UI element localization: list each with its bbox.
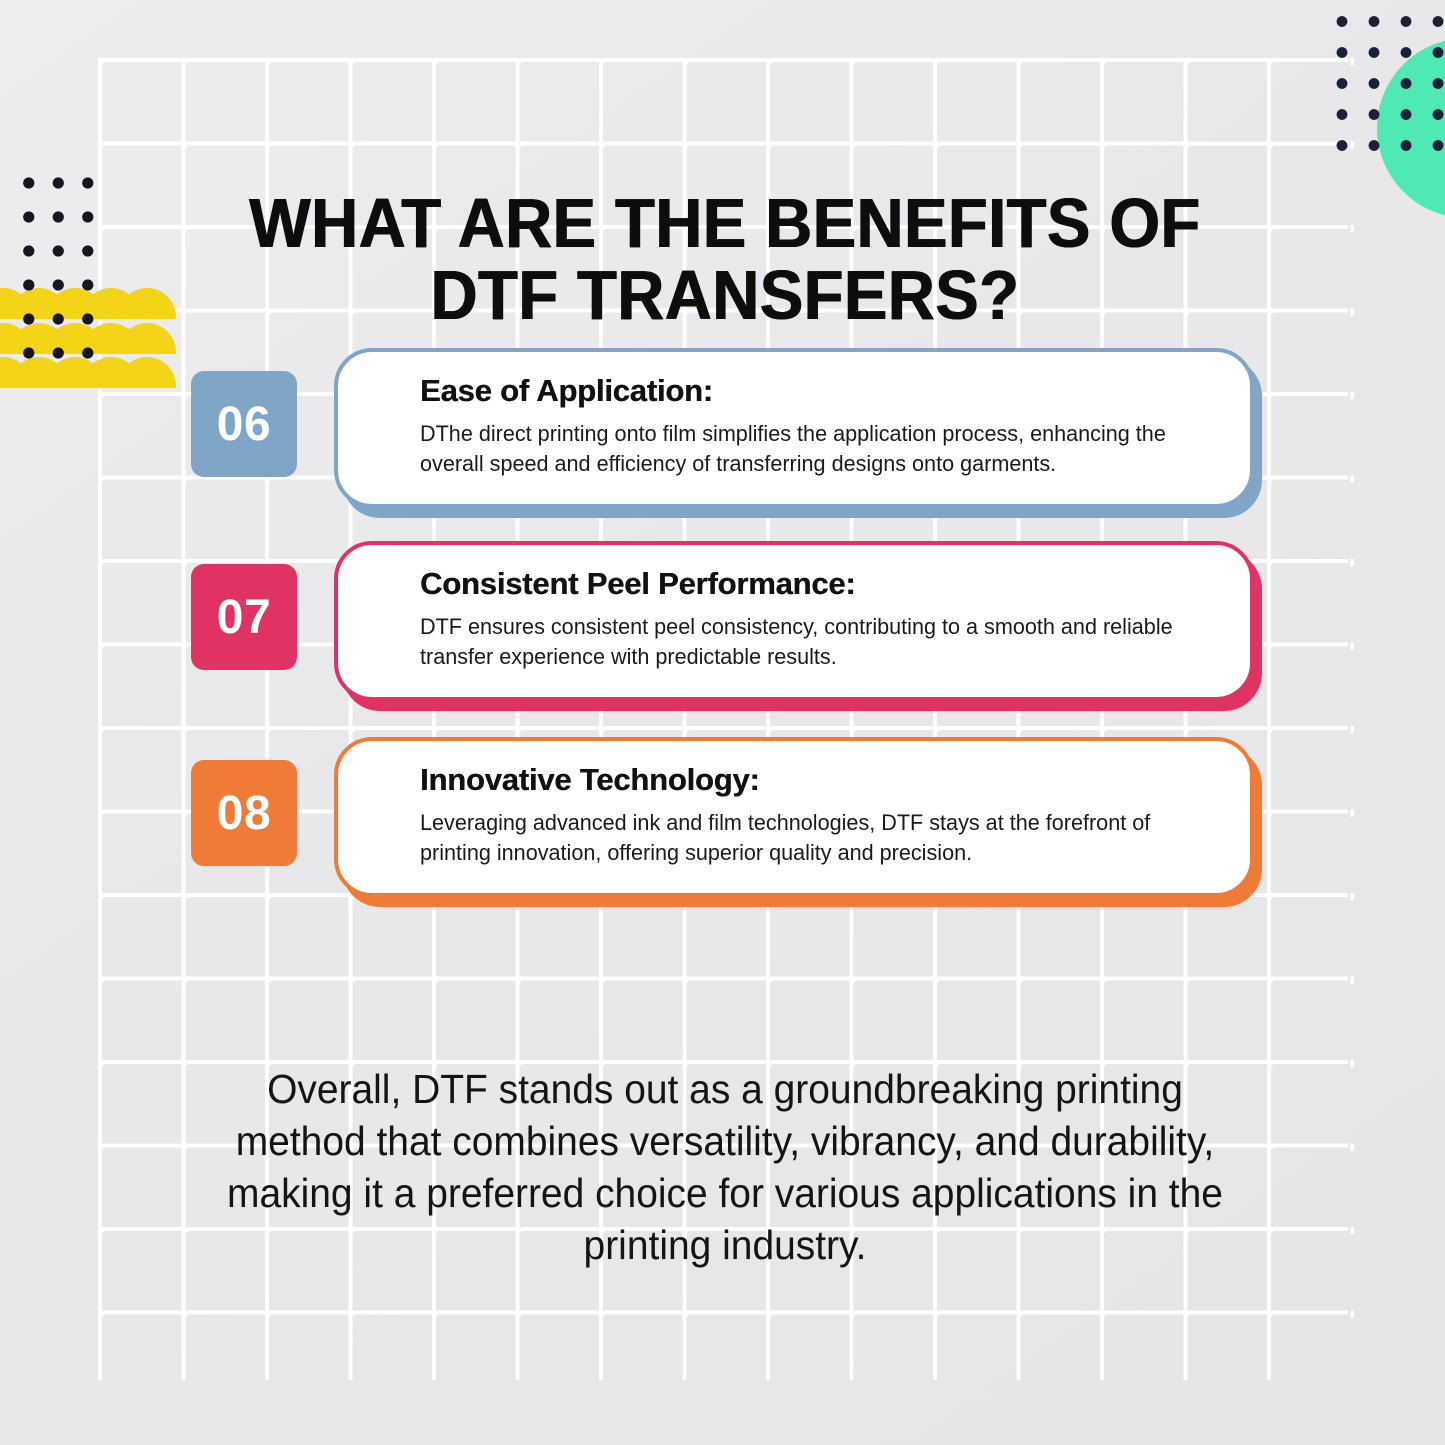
infographic-poster: WHAT ARE THE BENEFITS OF DTF TRANSFERS? … <box>0 0 1445 1445</box>
dot-grid-icon-left <box>8 160 100 368</box>
list-item[interactable]: 07 Consistent Peel Performance: DTF ensu… <box>0 538 1445 734</box>
page-title: WHAT ARE THE BENEFITS OF DTF TRANSFERS? <box>209 187 1241 331</box>
card-surface: Consistent Peel Performance: DTF ensures… <box>334 541 1254 701</box>
dot-grid-icon-top-right <box>1322 0 1445 170</box>
item-title: Innovative Technology: <box>420 764 1204 797</box>
item-title: Consistent Peel Performance: <box>420 568 1204 601</box>
item-number-badge: 06 <box>191 371 297 477</box>
benefits-list: 06 Ease of Application: DThe direct prin… <box>0 342 1445 930</box>
list-item[interactable]: 06 Ease of Application: DThe direct prin… <box>0 342 1445 538</box>
item-number-badge: 08 <box>191 760 297 866</box>
card-surface: Ease of Application: DThe direct printin… <box>334 348 1254 508</box>
item-title: Ease of Application: <box>420 375 1204 408</box>
item-body: DThe direct printing onto film simplifie… <box>420 419 1177 480</box>
item-card[interactable]: Ease of Application: DThe direct printin… <box>334 348 1254 508</box>
list-item[interactable]: 08 Innovative Technology: Leveraging adv… <box>0 734 1445 930</box>
card-surface: Innovative Technology: Leveraging advanc… <box>334 737 1254 897</box>
item-number-badge: 07 <box>191 564 297 670</box>
item-body: DTF ensures consistent peel consistency,… <box>420 612 1177 673</box>
item-card[interactable]: Consistent Peel Performance: DTF ensures… <box>334 541 1254 701</box>
item-card[interactable]: Innovative Technology: Leveraging advanc… <box>334 737 1254 897</box>
item-body: Leveraging advanced ink and film technol… <box>420 808 1177 869</box>
summary-text: Overall, DTF stands out as a groundbreak… <box>203 1063 1248 1271</box>
